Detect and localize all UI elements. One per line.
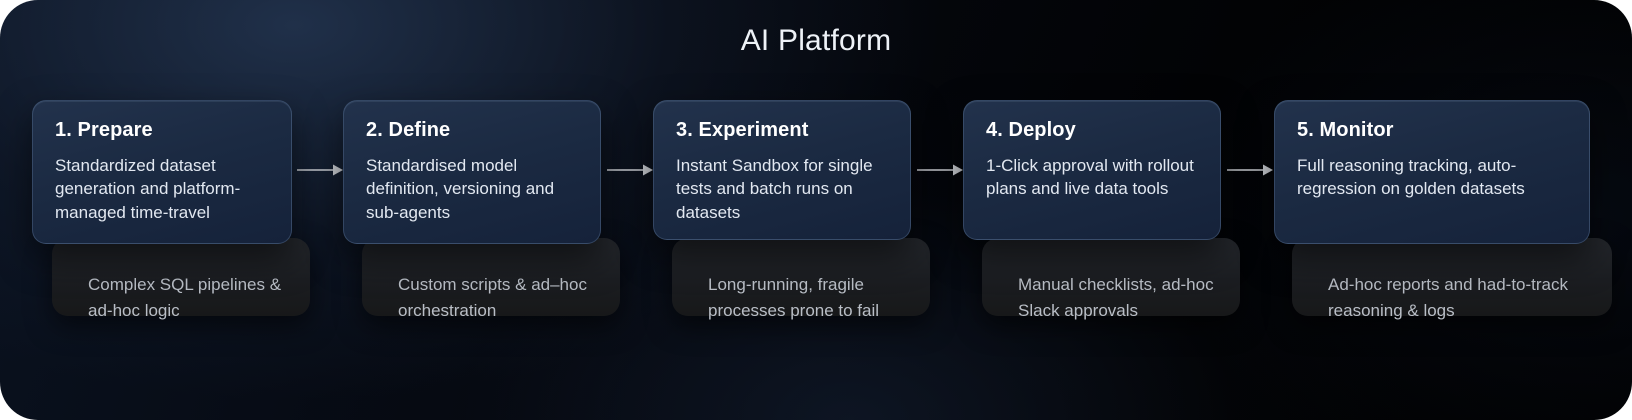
step-card-5-title: 5. Monitor bbox=[1297, 119, 1567, 142]
pain-card-5-text: Ad-hoc reports and had-to-track reasonin… bbox=[1328, 272, 1592, 323]
diagram-canvas: AI Platform Complex SQL pipelines & ad-h… bbox=[0, 0, 1632, 420]
arrow-1-to-2 bbox=[297, 163, 343, 177]
step-card-3[interactable]: 3. Experiment Instant Sandbox for single… bbox=[653, 100, 911, 240]
pain-card-5: Ad-hoc reports and had-to-track reasonin… bbox=[1292, 238, 1612, 316]
arrow-4-to-5 bbox=[1227, 163, 1273, 177]
step-card-1-description: Standardized dataset generation and plat… bbox=[55, 154, 269, 224]
pain-card-2: Custom scripts & ad–hoc orchestration bbox=[362, 238, 620, 316]
step-card-5-description: Full reasoning tracking, auto-regression… bbox=[1297, 154, 1567, 201]
pain-card-1-text: Complex SQL pipelines & ad-hoc logic bbox=[88, 272, 290, 323]
step-card-1[interactable]: 1. Prepare Standardized dataset generati… bbox=[32, 100, 292, 244]
pain-card-4-text: Manual checklists, ad-hoc Slack approval… bbox=[1018, 272, 1220, 323]
arrow-3-to-4 bbox=[917, 163, 963, 177]
step-card-3-title: 3. Experiment bbox=[676, 119, 888, 142]
pain-card-4: Manual checklists, ad-hoc Slack approval… bbox=[982, 238, 1240, 316]
step-card-1-title: 1. Prepare bbox=[55, 119, 269, 142]
step-card-4[interactable]: 4. Deploy 1-Click approval with rollout … bbox=[963, 100, 1221, 240]
pain-card-3: Long-running, fragile processes prone to… bbox=[672, 238, 930, 316]
pain-card-1: Complex SQL pipelines & ad-hoc logic bbox=[52, 238, 310, 316]
pain-card-3-text: Long-running, fragile processes prone to… bbox=[708, 272, 910, 323]
arrow-2-to-3 bbox=[607, 163, 653, 177]
step-card-3-description: Instant Sandbox for single tests and bat… bbox=[676, 154, 888, 224]
pain-card-2-text: Custom scripts & ad–hoc orchestration bbox=[398, 272, 600, 323]
step-card-5[interactable]: 5. Monitor Full reasoning tracking, auto… bbox=[1274, 100, 1590, 244]
step-card-4-title: 4. Deploy bbox=[986, 119, 1198, 142]
page-title: AI Platform bbox=[0, 24, 1632, 58]
step-card-2-title: 2. Define bbox=[366, 119, 578, 142]
step-card-4-description: 1-Click approval with rollout plans and … bbox=[986, 154, 1198, 201]
step-card-2-description: Standardised model definition, versionin… bbox=[366, 154, 578, 224]
step-card-2[interactable]: 2. Define Standardised model definition,… bbox=[343, 100, 601, 244]
